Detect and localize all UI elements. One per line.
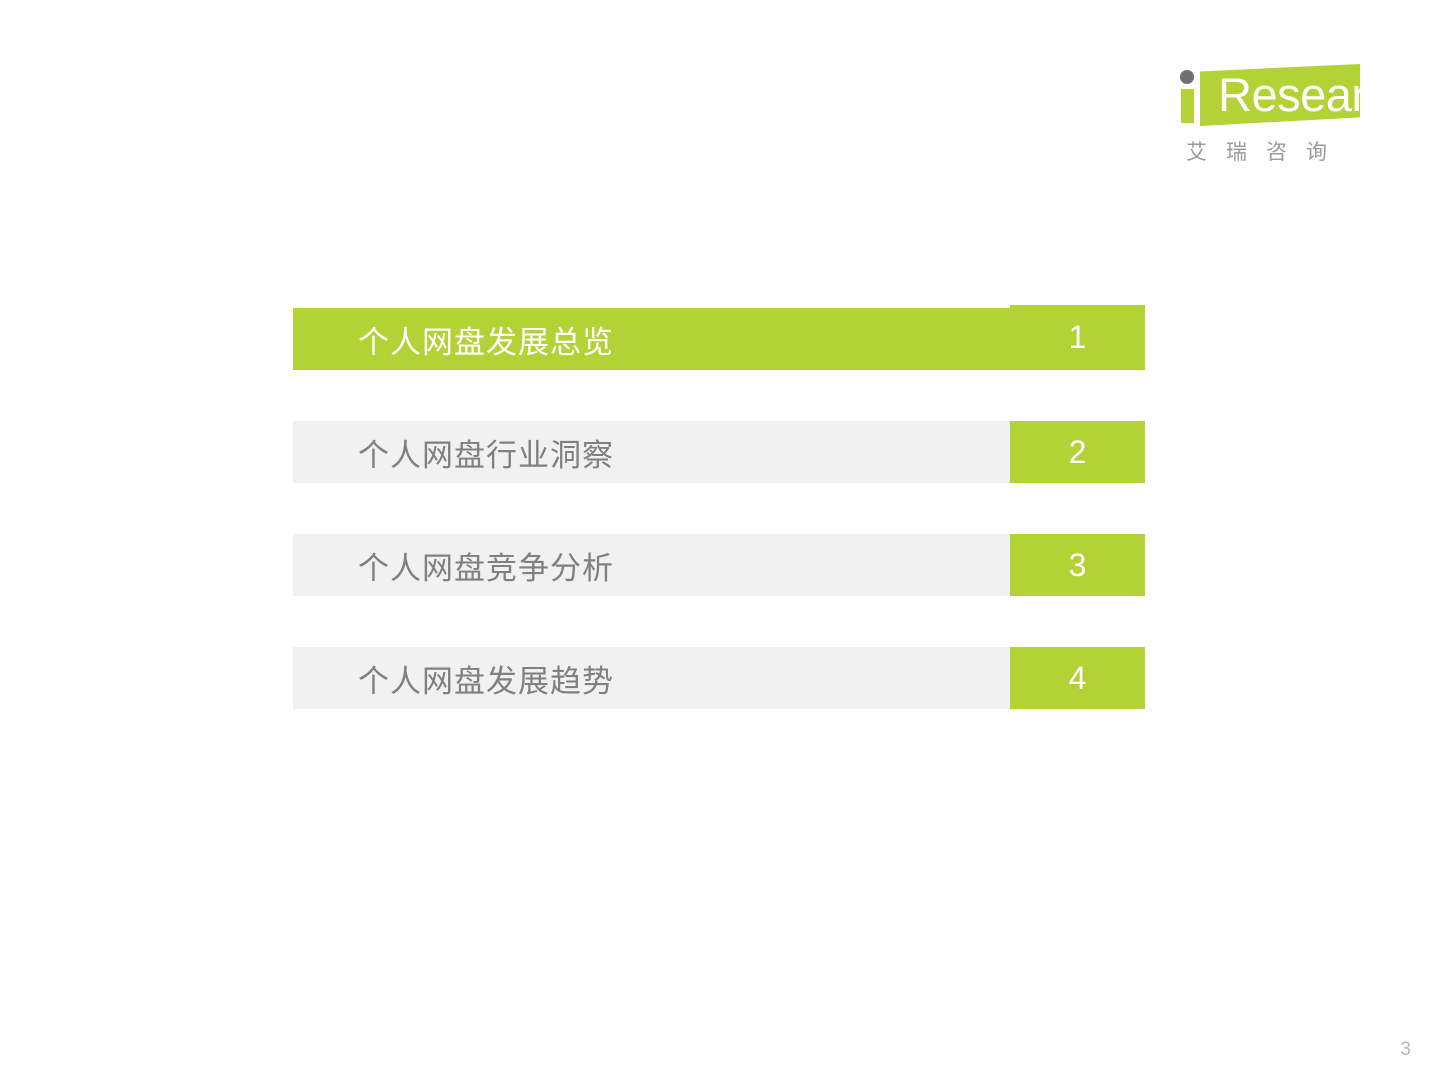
agenda-item-4-number: 4 xyxy=(1010,647,1145,709)
page-number: 3 xyxy=(1400,1039,1411,1061)
agenda-item-2[interactable]: 个人网盘行业洞察 2 xyxy=(293,421,1145,483)
agenda-item-3[interactable]: 个人网盘竞争分析 3 xyxy=(293,534,1145,596)
iresearch-logo: Research 艾瑞咨询 xyxy=(1178,64,1388,174)
agenda-item-4[interactable]: 个人网盘发展趋势 4 xyxy=(293,647,1145,709)
agenda-item-1-label: 个人网盘发展总览 xyxy=(358,317,614,362)
agenda-item-3-body[interactable]: 个人网盘竞争分析 xyxy=(293,534,1010,596)
logo-wordmark: Research xyxy=(1218,66,1415,124)
agenda-item-4-label: 个人网盘发展趋势 xyxy=(358,656,614,701)
agenda-item-1[interactable]: 个人网盘发展总览 1 xyxy=(293,308,1145,370)
agenda-item-2-label: 个人网盘行业洞察 xyxy=(358,430,614,475)
logo-subtitle: 艾瑞咨询 xyxy=(1186,136,1346,166)
agenda-item-3-number: 3 xyxy=(1010,534,1145,596)
logo-i-dot-icon xyxy=(1180,70,1194,84)
logo-mark: Research xyxy=(1178,64,1360,126)
logo-i-stem-icon xyxy=(1181,89,1194,123)
agenda-item-1-number: 1 xyxy=(1010,305,1145,370)
agenda-list: 个人网盘发展总览 1 个人网盘行业洞察 2 个人网盘竞争分析 3 个人网盘发展趋… xyxy=(293,308,1145,709)
agenda-item-2-number: 2 xyxy=(1010,421,1145,483)
agenda-item-4-body[interactable]: 个人网盘发展趋势 xyxy=(293,647,1010,709)
agenda-item-3-label: 个人网盘竞争分析 xyxy=(358,543,614,588)
agenda-item-1-body[interactable]: 个人网盘发展总览 xyxy=(293,308,1010,370)
agenda-item-2-body[interactable]: 个人网盘行业洞察 xyxy=(293,421,1010,483)
